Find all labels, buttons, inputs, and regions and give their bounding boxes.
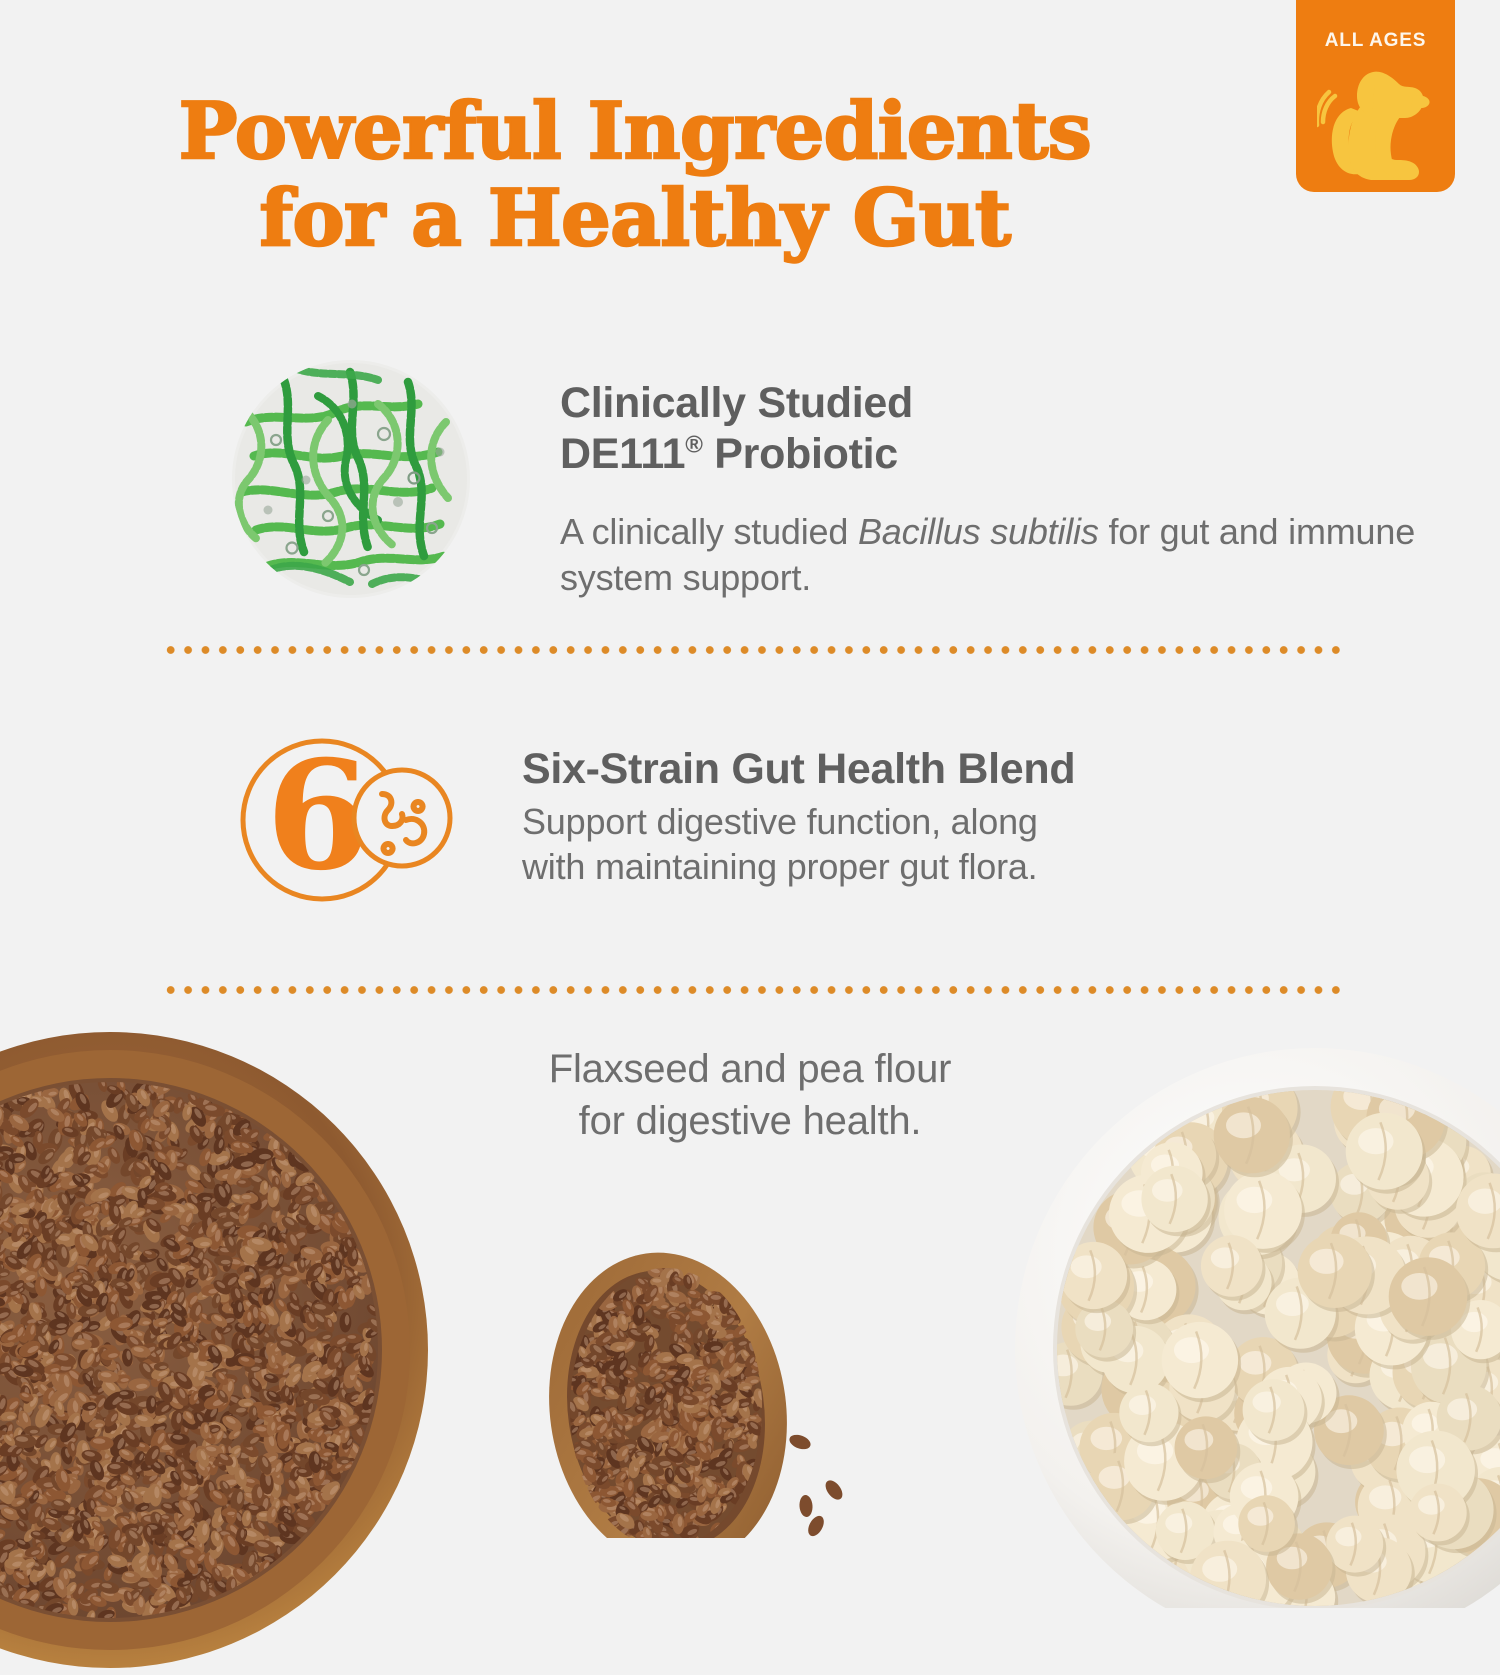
feature-text-probiotic: Clinically Studied DE111® Probiotic A cl…	[560, 378, 1500, 601]
sitting-dog-icon	[1317, 56, 1435, 189]
page-title: Powerful Ingredients for a Healthy Gut	[0, 88, 1270, 263]
registered-trademark-symbol: ®	[685, 431, 702, 458]
flaxseed-wooden-bowl-photo	[0, 1030, 430, 1670]
six-strain-probiotic-icon: 6	[240, 728, 455, 913]
feature-row-blend: 6 Six-Strain Gut Health Blend Support di…	[240, 728, 1075, 913]
feature-body-line-1: Support digestive function, along	[522, 799, 1075, 845]
all-ages-badge: ALL AGES	[1296, 0, 1455, 192]
dotted-divider	[162, 985, 1340, 995]
page-title-line-1: Powerful Ingredients	[179, 86, 1091, 177]
bottom-caption-line-1: Flaxseed and pea flour	[390, 1043, 1110, 1095]
de111-text: DE111	[560, 430, 685, 478]
all-ages-label: ALL AGES	[1325, 30, 1426, 52]
feature-body-probiotic: A clinically studied Bacillus subtilis f…	[560, 509, 1500, 600]
feature-row-probiotic: Clinically Studied DE111® Probiotic A cl…	[232, 360, 1500, 601]
feature-heading-probiotic: Clinically Studied DE111® Probiotic	[560, 378, 1500, 479]
feature-text-blend: Six-Strain Gut Health Blend Support dige…	[522, 744, 1075, 913]
feature-body-line-2: with maintaining proper gut flora.	[522, 844, 1075, 890]
species-name-italic: Bacillus subtilis	[858, 511, 1099, 552]
dotted-divider	[162, 645, 1340, 655]
bottom-caption-line-2: for digestive health.	[390, 1095, 1110, 1147]
feature-heading-line-2: DE111® Probiotic	[560, 429, 1500, 480]
microscope-bacteria-circle-icon	[232, 360, 470, 601]
body-pre: A clinically studied	[560, 511, 858, 552]
feature-heading-line-1: Clinically Studied	[560, 378, 1500, 429]
bottom-caption: Flaxseed and pea flour for digestive hea…	[390, 1043, 1110, 1147]
feature-body-blend: Support digestive function, along with m…	[522, 799, 1075, 890]
feature-heading-blend: Six-Strain Gut Health Blend	[522, 744, 1075, 795]
probiotic-text: Probiotic	[703, 430, 898, 478]
flaxseed-wooden-spoon-photo	[548, 1238, 898, 1538]
page-title-line-2: for a Healthy Gut	[0, 175, 1270, 262]
